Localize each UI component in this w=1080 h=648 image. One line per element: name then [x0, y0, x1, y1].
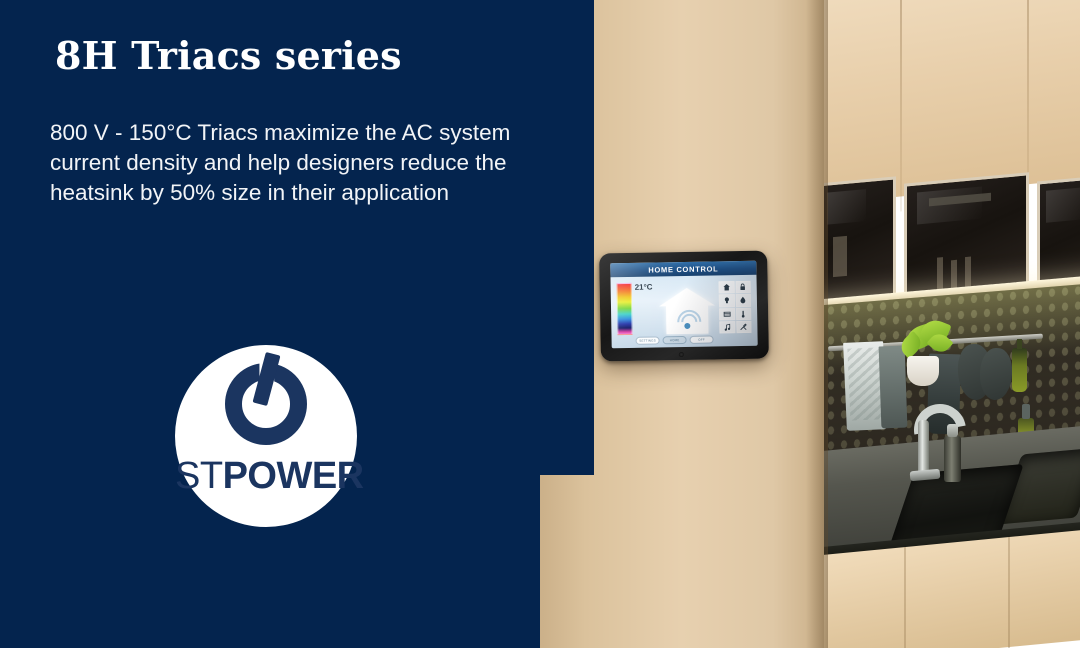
glass-reflection — [827, 189, 867, 224]
logo-wordmark: STPOWER — [175, 455, 357, 498]
tablet-button-row[interactable]: SETTINGS HOME OFF — [636, 335, 714, 344]
tools-icon[interactable] — [736, 321, 752, 334]
wall-shadow — [806, 0, 828, 648]
cabinet-seam — [1008, 537, 1010, 648]
soap-dispenser — [944, 436, 961, 482]
temperature-readout: 21°C — [635, 283, 653, 292]
thermometer-icon[interactable] — [736, 307, 752, 320]
logo-text-power: POWER — [223, 455, 364, 497]
cabinet-contents — [965, 257, 971, 290]
tablet-button-home[interactable]: HOME — [663, 336, 687, 344]
faucet-column — [918, 420, 929, 476]
tablet-home-button[interactable] — [679, 352, 684, 357]
color-gradient-slider[interactable] — [617, 283, 633, 335]
tablet-body: 21°C — [610, 275, 757, 349]
house-wifi-icon — [659, 287, 716, 334]
tablet-screen[interactable]: HOME CONTROL 21°C — [610, 261, 757, 349]
banner-stage: HOME CONTROL 21°C — [0, 0, 1080, 648]
cabinet-seam — [904, 547, 906, 648]
control-icon-grid[interactable] — [719, 281, 752, 334]
music-note-icon[interactable] — [719, 321, 735, 334]
glass-cabinet — [818, 176, 896, 311]
droplet-icon[interactable] — [735, 294, 751, 307]
glass-reflection — [1046, 187, 1080, 222]
banner-description: 800 V - 150°C Triacs maximize the AC sys… — [50, 118, 530, 208]
tablet-button-off[interactable]: OFF — [690, 335, 714, 343]
cabinet-contents — [951, 260, 957, 291]
page-title: 8H Triacs series — [55, 33, 402, 78]
cabinet-contents — [937, 257, 943, 292]
glass-reflection — [917, 187, 982, 225]
stpower-logo: STPOWER — [175, 345, 357, 527]
house-roof — [659, 287, 715, 306]
cabinet-contents — [833, 236, 847, 277]
tablet-title: HOME CONTROL — [648, 264, 718, 274]
oil-bottle — [1012, 348, 1027, 392]
plant-pot — [907, 356, 939, 386]
house-icon[interactable] — [719, 281, 735, 294]
wifi-waves-icon — [675, 310, 701, 330]
window-blinds-icon[interactable] — [719, 308, 735, 321]
lock-icon[interactable] — [735, 281, 751, 294]
bulb-icon[interactable] — [719, 294, 735, 307]
hanging-towel — [879, 346, 908, 429]
logo-text-st: ST — [175, 455, 223, 497]
tablet-button-settings[interactable]: SETTINGS — [636, 336, 660, 344]
home-control-tablet[interactable]: HOME CONTROL 21°C — [599, 251, 769, 362]
